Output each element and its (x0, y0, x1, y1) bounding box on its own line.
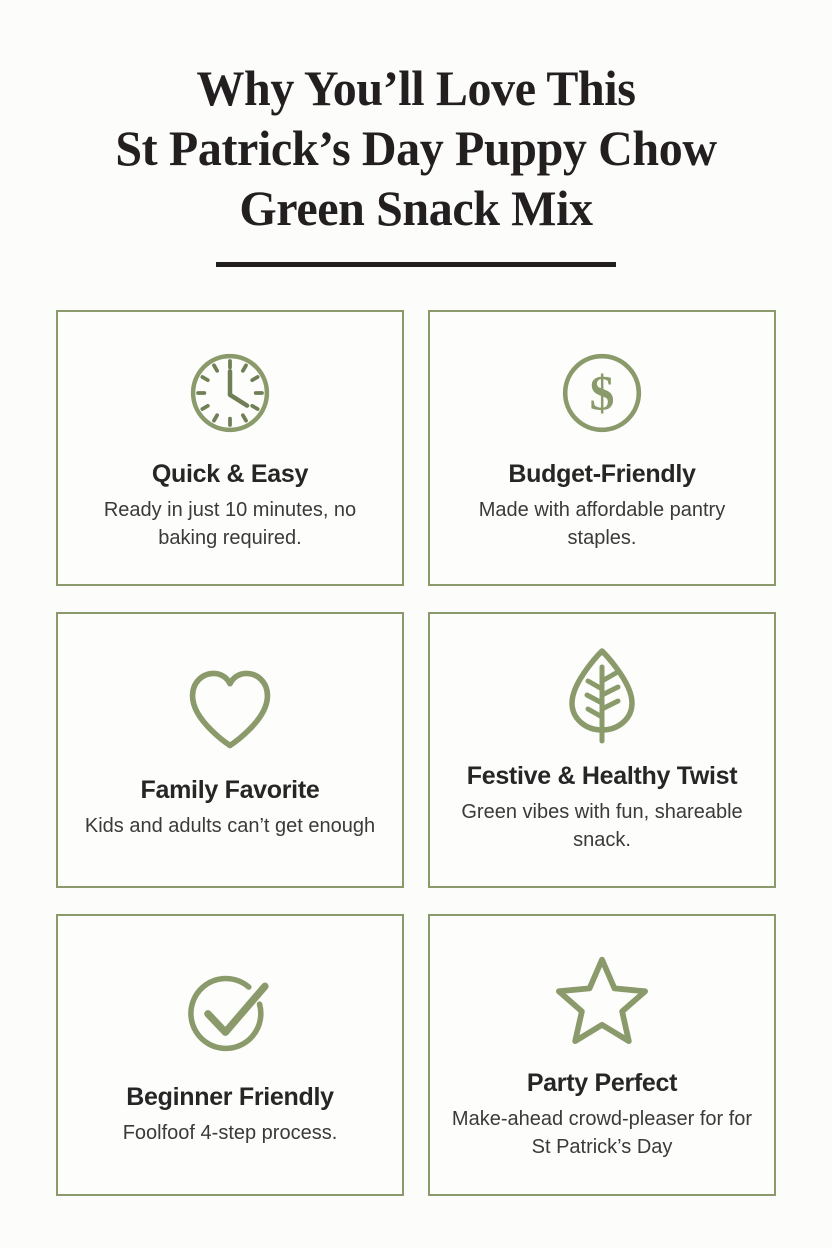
benefit-description: Foolfoof 4-step process. (123, 1119, 338, 1147)
page-title-line-2: St Patrick’s Day Puppy Chow (55, 118, 777, 178)
clock-icon (185, 341, 275, 445)
benefit-card-budget-friendly: $ Budget-Friendly Made with affordable p… (428, 310, 776, 586)
dollar-circle-icon: $ (556, 341, 648, 445)
benefit-card-beginner-friendly: Beginner Friendly Foolfoof 4-step proces… (56, 914, 404, 1196)
title-block: Why You’ll Love This St Patrick’s Day Pu… (0, 0, 832, 267)
svg-text:$: $ (590, 365, 615, 420)
star-icon (554, 946, 650, 1050)
infographic-page: Why You’ll Love This St Patrick’s Day Pu… (0, 0, 832, 1248)
heart-icon (183, 657, 277, 761)
benefit-title: Beginner Friendly (126, 1082, 333, 1112)
benefit-description: Made with affordable pantry staples. (447, 496, 757, 552)
benefit-card-party-perfect: Party Perfect Make-ahead crowd-pleaser f… (428, 914, 776, 1196)
benefit-card-family-favorite: Family Favorite Kids and adults can’t ge… (56, 612, 404, 888)
benefit-description: Ready in just 10 minutes, no baking requ… (75, 496, 385, 552)
benefit-title: Budget-Friendly (508, 459, 695, 489)
benefit-title: Family Favorite (141, 775, 320, 805)
benefit-description: Kids and adults can’t get enough (85, 812, 375, 840)
title-divider (216, 262, 616, 267)
page-title-line-1: Why You’ll Love This (55, 58, 777, 118)
benefit-title: Festive & Healthy Twist (467, 761, 738, 791)
leaf-icon (562, 643, 642, 747)
check-circle-icon (184, 960, 276, 1064)
benefit-description: Green vibes with fun, shareable snack. (447, 798, 757, 854)
benefit-card-festive-healthy: Festive & Healthy Twist Green vibes with… (428, 612, 776, 888)
benefit-card-quick-easy: Quick & Easy Ready in just 10 minutes, n… (56, 310, 404, 586)
benefit-description: Make-ahead crowd-pleaser for for St Patr… (447, 1105, 757, 1161)
benefit-title: Quick & Easy (152, 459, 308, 489)
page-title: Why You’ll Love This St Patrick’s Day Pu… (17, 58, 816, 238)
benefit-title: Party Perfect (527, 1068, 677, 1098)
benefits-grid: Quick & Easy Ready in just 10 minutes, n… (56, 310, 776, 1196)
page-title-line-3: Green Snack Mix (55, 178, 777, 238)
